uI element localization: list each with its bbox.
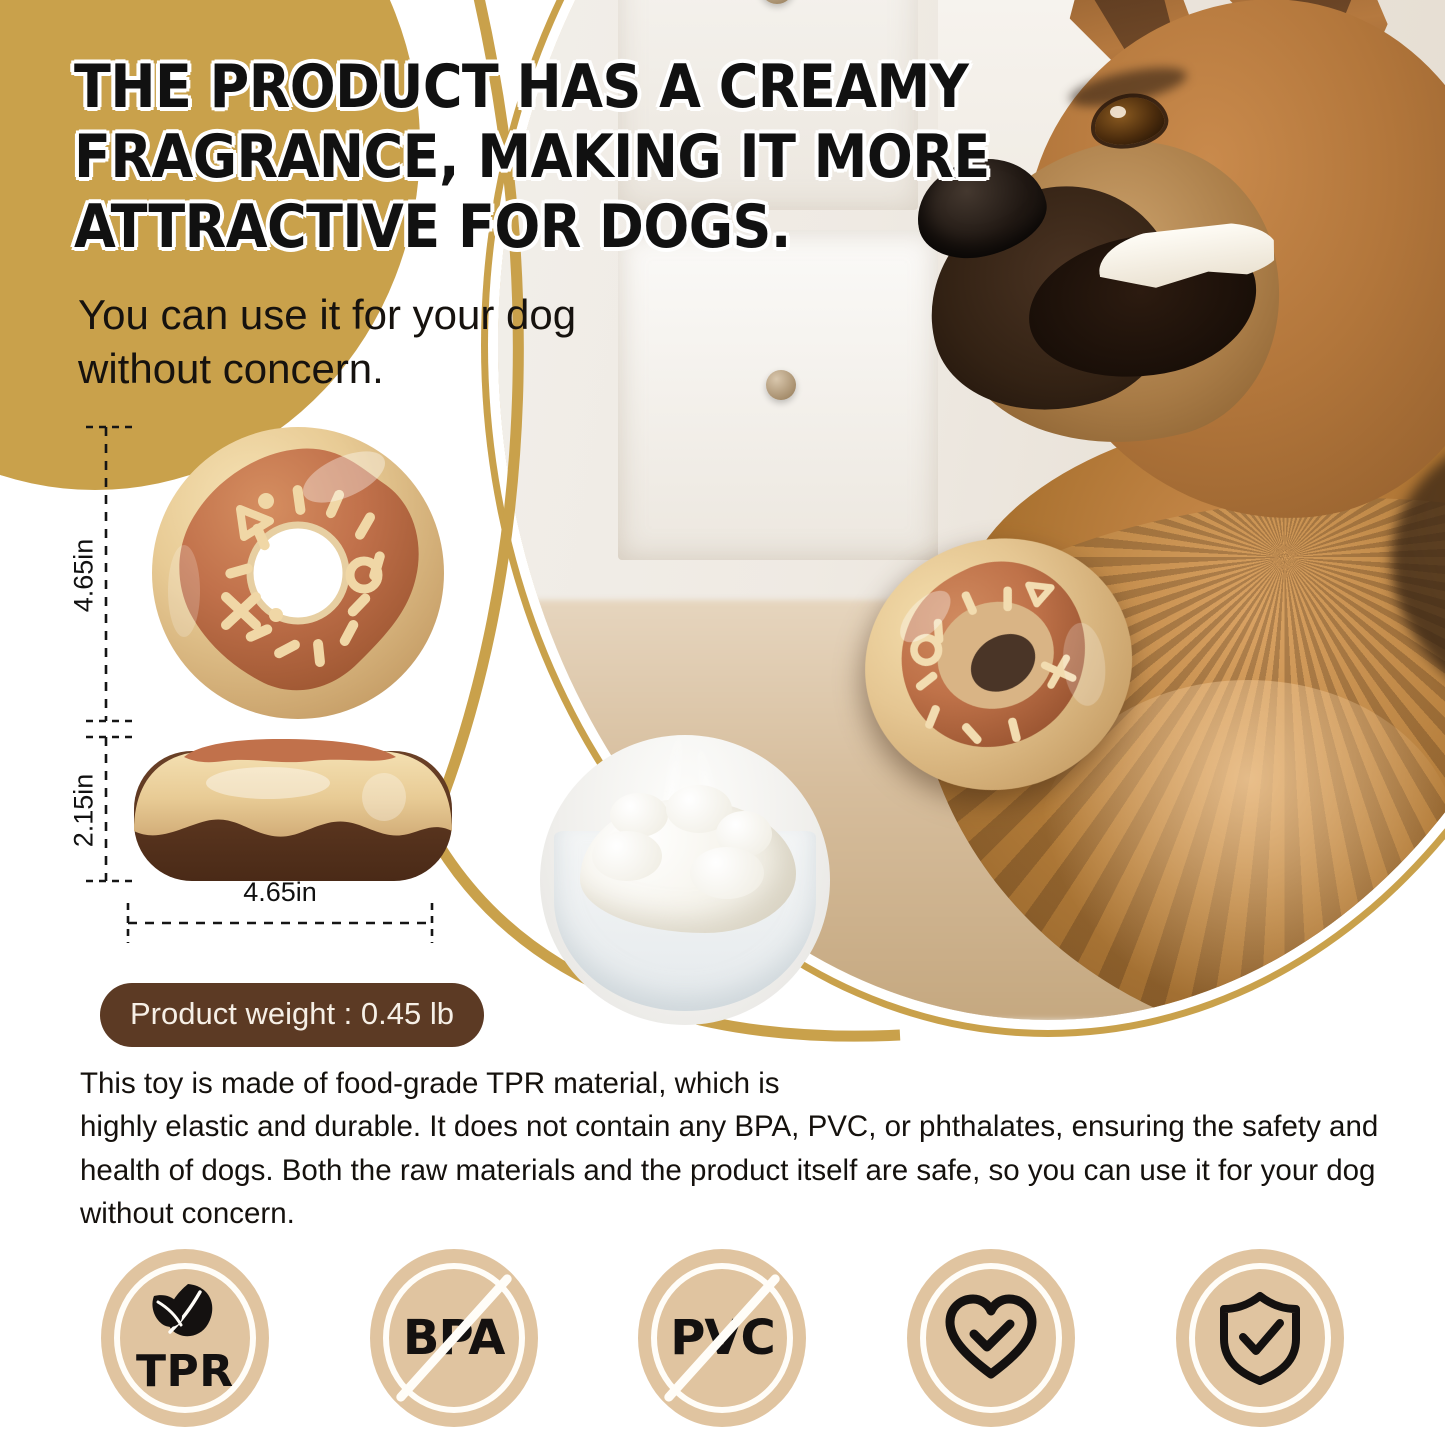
dimension-height-label: 4.65in (69, 526, 100, 626)
product-weight-badge: Product weight : 0.45 lb (100, 983, 484, 1047)
badge-shield-check (1176, 1249, 1344, 1427)
headline: THE PRODUCT HAS A CREAMY FRAGRANCE, MAKI… (74, 52, 1234, 263)
shield-check-icon (1218, 1291, 1302, 1385)
description-line-1: This toy is made of food-grade TPR mater… (80, 1062, 1400, 1105)
description-line-2: highly elastic and durable. It does not … (80, 1105, 1400, 1235)
dimension-thickness-label: 2.15in (69, 761, 100, 861)
heart-check-icon (944, 1294, 1038, 1382)
badge-tpr: TPR (101, 1249, 269, 1427)
badge-no-bpa: BPA (370, 1249, 538, 1427)
badge-heart-check (907, 1249, 1075, 1427)
subheadline: You can use it for your dog without conc… (78, 288, 718, 396)
product-dimension-diagram: 4.65in 2.15in 4.65in (70, 415, 540, 955)
cream-peak (690, 847, 764, 899)
product-description: This toy is made of food-grade TPR mater… (80, 1062, 1400, 1235)
cream-peak (592, 831, 662, 881)
leaf-icon (148, 1280, 222, 1344)
product-infographic: THE PRODUCT HAS A CREAMY FRAGRANCE, MAKI… (0, 0, 1445, 1445)
badge-no-pvc: PVC (638, 1249, 806, 1427)
cream-peak (610, 793, 668, 837)
donut-toy-front-view (148, 423, 448, 723)
badge-tpr-label: TPR (136, 1346, 234, 1397)
whipped-cream-inset-photo (540, 735, 830, 1025)
certification-badge-row: TPR BPA PVC (0, 1238, 1445, 1438)
donut-toy-side-view (128, 735, 458, 887)
